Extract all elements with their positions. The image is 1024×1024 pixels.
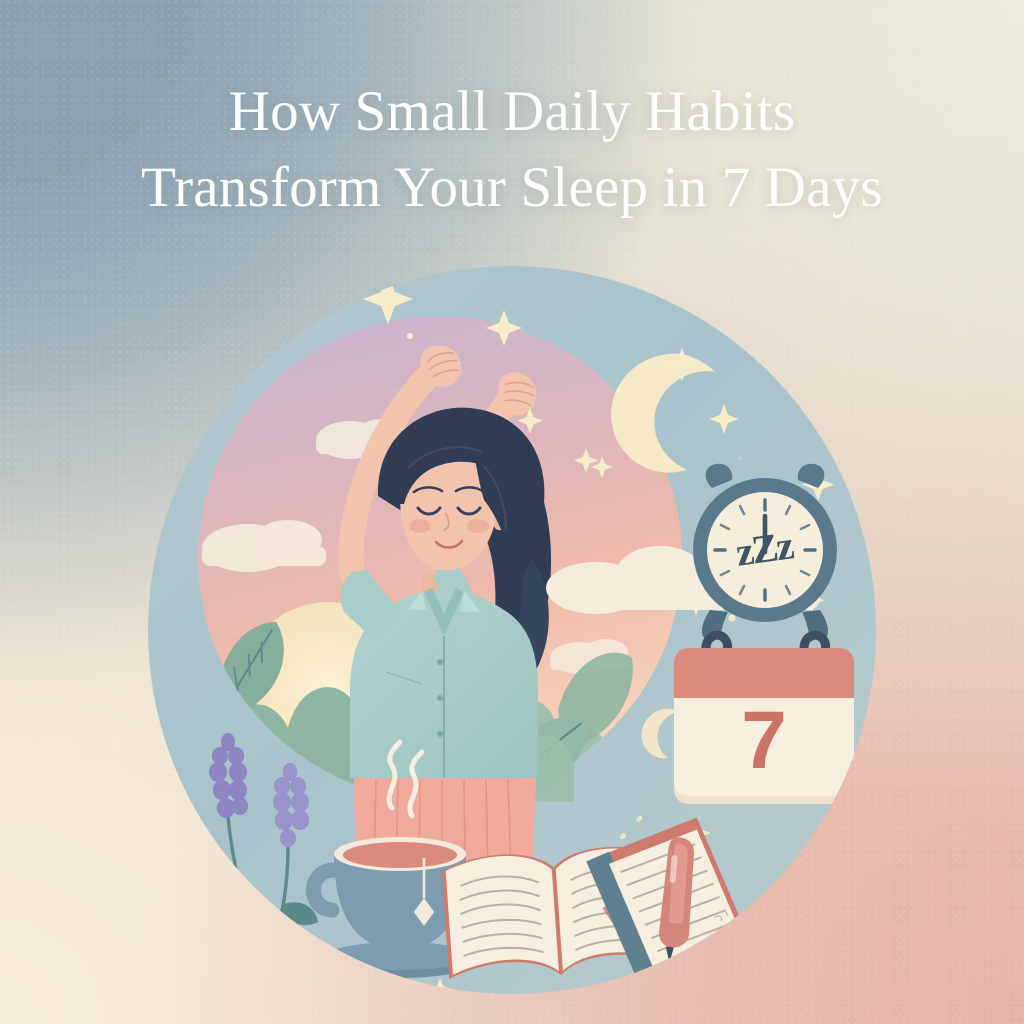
calendar-day-number: 7 [741, 695, 787, 786]
blush-left [409, 519, 431, 533]
title-line-1: How Small Daily Habits [48, 74, 976, 150]
blush-right [467, 519, 489, 533]
title-line-2: Transform Your Sleep in 7 Days [48, 150, 976, 226]
tea-surface [343, 842, 457, 868]
sleep-habits-circle-illustration: zZz 7 [140, 258, 884, 1002]
clock-face-text: zZz [733, 522, 796, 575]
page-title: How Small Daily Habits Transform Your Sl… [0, 74, 1024, 226]
calendar: 7 [674, 635, 854, 804]
poster-canvas: How Small Daily Habits Transform Your Sl… [0, 0, 1024, 1024]
